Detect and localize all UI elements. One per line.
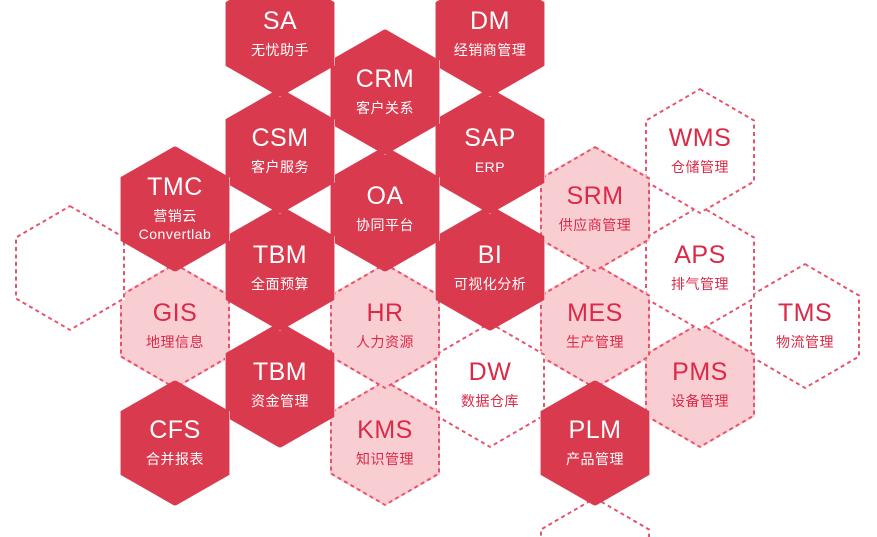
hex-cell-sa[interactable]: SA无忧助手 — [225, 0, 335, 97]
hex-label: TMC营销云Convertlab — [139, 175, 212, 243]
hex-description-line: 物流管理 — [776, 334, 834, 352]
hex-description-line: Convertlab — [139, 226, 212, 244]
hex-description: 客户服务 — [251, 159, 309, 177]
hex-description: 生产管理 — [566, 334, 624, 352]
hexagon-diagram: TMC营销云ConvertlabGIS地理信息CFS合并报表SA无忧助手CSM客… — [0, 0, 877, 537]
hex-code: GIS — [146, 301, 204, 326]
hex-description-line: 客户关系 — [356, 100, 414, 118]
hex-label: SA无忧助手 — [251, 9, 309, 60]
hex-cell-tmc[interactable]: TMC营销云Convertlab — [120, 146, 230, 272]
hex-description: 全面预算 — [251, 276, 309, 294]
hex-label: MES生产管理 — [566, 301, 624, 352]
hex-label: OA协同平台 — [356, 184, 414, 235]
hex-code: TBM — [251, 360, 309, 385]
hex-cell-srm[interactable]: SRM供应商管理 — [540, 146, 650, 272]
hex-code: CFS — [146, 418, 204, 443]
hex-label: BI可视化分析 — [454, 243, 527, 294]
hex-description-line: 经销商管理 — [454, 42, 527, 60]
hex-label: SAPERP — [464, 126, 516, 177]
hex-description-line: 排气管理 — [671, 276, 729, 294]
hex-description: 经销商管理 — [454, 42, 527, 60]
hex-cell-dw[interactable]: DW数据仓库 — [435, 322, 545, 448]
hex-description-line: 客户服务 — [251, 159, 309, 177]
hex-code: WMS — [669, 126, 732, 151]
hex-label: HR人力资源 — [356, 301, 414, 352]
hex-label: APS排气管理 — [671, 243, 729, 294]
hex-label: DW数据仓库 — [461, 360, 519, 411]
hex-label: GIS地理信息 — [146, 301, 204, 352]
hex-code: TBM — [251, 243, 309, 268]
hex-description-line: 可视化分析 — [454, 276, 527, 294]
hex-description: 设备管理 — [671, 393, 729, 411]
hex-code: TMC — [139, 175, 212, 200]
hex-cell-mes[interactable]: MES生产管理 — [540, 263, 650, 389]
hex-description-line: 产品管理 — [566, 451, 624, 469]
hex-label: PLM产品管理 — [566, 418, 624, 469]
hex-description-line: 设备管理 — [671, 393, 729, 411]
hex-cell-tbm-budget[interactable]: TBM全面预算 — [225, 205, 335, 331]
hex-cell-plm[interactable]: PLM产品管理 — [540, 380, 650, 506]
hex-description-line: 资金管理 — [251, 393, 309, 411]
hex-description: 人力资源 — [356, 334, 414, 352]
hex-code: CRM — [356, 67, 414, 92]
hex-code: BI — [454, 243, 527, 268]
hex-cell-crm[interactable]: CRM客户关系 — [330, 29, 440, 155]
hex-description-line: ERP — [464, 159, 516, 177]
hex-code: DM — [454, 9, 527, 34]
hex-description: 地理信息 — [146, 334, 204, 352]
hex-code: SA — [251, 9, 309, 34]
hex-description: 知识管理 — [356, 451, 414, 469]
hex-code: KMS — [356, 418, 414, 443]
hex-code: MES — [566, 301, 624, 326]
hex-cell-bi[interactable]: BI可视化分析 — [435, 205, 545, 331]
hex-code: TMS — [776, 301, 834, 326]
hex-description-line: 地理信息 — [146, 334, 204, 352]
hex-cell-tbm-funds[interactable]: TBM资金管理 — [225, 322, 335, 448]
hex-label: TMS物流管理 — [776, 301, 834, 352]
hex-description-line: 仓储管理 — [669, 159, 732, 177]
hex-description: 仓储管理 — [669, 159, 732, 177]
hex-description-line: 全面预算 — [251, 276, 309, 294]
hexagon-dashed-border — [15, 205, 125, 331]
hex-label: SRM供应商管理 — [559, 184, 632, 235]
hex-cell-aps[interactable]: APS排气管理 — [645, 205, 755, 331]
hex-cell-oa[interactable]: OA协同平台 — [330, 146, 440, 272]
hex-cell-csm[interactable]: CSM客户服务 — [225, 88, 335, 214]
hex-code: DW — [461, 360, 519, 385]
hex-description-line: 合并报表 — [146, 451, 204, 469]
hex-code: PLM — [566, 418, 624, 443]
hex-cell-wms[interactable]: WMS仓储管理 — [645, 88, 755, 214]
hex-description: 营销云Convertlab — [139, 208, 212, 243]
hex-description-line: 人力资源 — [356, 334, 414, 352]
hex-description-line: 供应商管理 — [559, 217, 632, 235]
hex-code: OA — [356, 184, 414, 209]
hex-label: PMS设备管理 — [671, 360, 729, 411]
hex-label: CRM客户关系 — [356, 67, 414, 118]
hex-code: SRM — [559, 184, 632, 209]
hex-description: 合并报表 — [146, 451, 204, 469]
hex-description: 协同平台 — [356, 217, 414, 235]
hex-label: TBM资金管理 — [251, 360, 309, 411]
hex-cell-cfs[interactable]: CFS合并报表 — [120, 380, 230, 506]
hex-description-line: 生产管理 — [566, 334, 624, 352]
hex-description-line: 知识管理 — [356, 451, 414, 469]
hex-label: KMS知识管理 — [356, 418, 414, 469]
hex-description: 产品管理 — [566, 451, 624, 469]
hex-cell-hr[interactable]: HR人力资源 — [330, 263, 440, 389]
hex-cell-empty-left — [15, 205, 125, 331]
hex-code: SAP — [464, 126, 516, 151]
hex-cell-pms[interactable]: PMS设备管理 — [645, 322, 755, 448]
hex-description: ERP — [464, 159, 516, 177]
hex-description: 供应商管理 — [559, 217, 632, 235]
hex-cell-gis[interactable]: GIS地理信息 — [120, 263, 230, 389]
hex-label: CSM客户服务 — [251, 126, 309, 177]
hex-label: TBM全面预算 — [251, 243, 309, 294]
hex-label: DM经销商管理 — [454, 9, 527, 60]
hex-code: APS — [671, 243, 729, 268]
hex-description: 可视化分析 — [454, 276, 527, 294]
hex-code: HR — [356, 301, 414, 326]
hex-description: 资金管理 — [251, 393, 309, 411]
hex-description-line: 协同平台 — [356, 217, 414, 235]
hex-description-line: 无忧助手 — [251, 42, 309, 60]
hex-description: 物流管理 — [776, 334, 834, 352]
hex-description: 数据仓库 — [461, 393, 519, 411]
hex-label: CFS合并报表 — [146, 418, 204, 469]
hexagon-outline — [15, 205, 125, 331]
hex-description-line: 营销云 — [139, 208, 212, 226]
hex-label: WMS仓储管理 — [669, 126, 732, 177]
hex-cell-kms[interactable]: KMS知识管理 — [330, 380, 440, 506]
hex-description: 排气管理 — [671, 276, 729, 294]
hex-description-line: 数据仓库 — [461, 393, 519, 411]
hex-description: 无忧助手 — [251, 42, 309, 60]
hex-code: CSM — [251, 126, 309, 151]
hex-code: PMS — [671, 360, 729, 385]
hex-cell-dm[interactable]: DM经销商管理 — [435, 0, 545, 97]
hex-description: 客户关系 — [356, 100, 414, 118]
hex-cell-sap[interactable]: SAPERP — [435, 88, 545, 214]
hex-cell-tms[interactable]: TMS物流管理 — [750, 263, 860, 389]
